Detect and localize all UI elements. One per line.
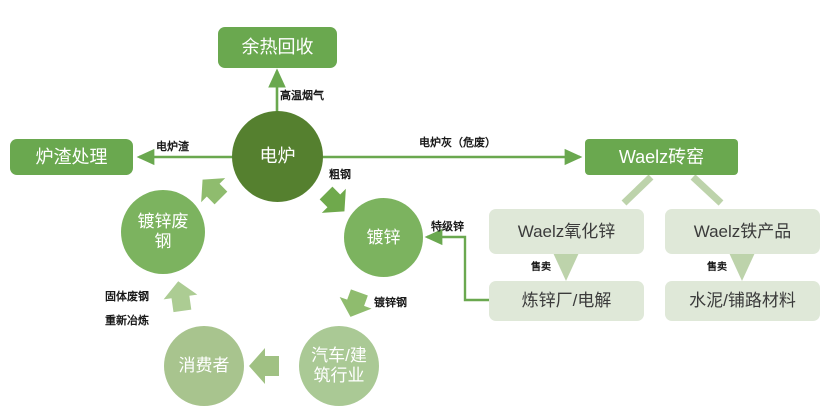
node-waelz-kiln[interactable]: Waelz砖窑 — [585, 139, 738, 175]
node-waelz-zinc-oxide[interactable]: Waelz氧化锌 — [489, 209, 644, 254]
node-electric-furnace[interactable]: 电炉 — [232, 111, 323, 202]
edge-label-special-zinc: 特级锌 — [431, 218, 464, 234]
edge-label-sell-zinc: 售卖 — [531, 258, 551, 273]
edge-kiln-to-zinc-oxide — [624, 177, 651, 203]
edge-industry-to-consumer-arrow — [249, 348, 279, 384]
node-label: 水泥/铺路材料 — [689, 291, 796, 311]
edge-kiln-to-iron-product — [693, 177, 721, 203]
node-cement-paving[interactable]: 水泥/铺路材料 — [665, 281, 820, 321]
node-galvanized-scrap[interactable]: 镀锌废钢 — [121, 190, 205, 274]
node-galvanizing[interactable]: 镀锌 — [344, 198, 423, 277]
node-slag-treatment[interactable]: 炉渣处理 — [10, 139, 133, 175]
edge-consumer-to-scrap-arrow — [161, 279, 199, 313]
node-label: 镀锌废钢 — [132, 212, 194, 251]
node-waste-heat-recovery[interactable]: 余热回收 — [218, 27, 337, 68]
edge-label-furnace-dust: 电炉灰（危废） — [419, 134, 496, 150]
edge-galvanizing-to-industry-arrow — [335, 287, 376, 323]
node-consumer[interactable]: 消费者 — [164, 326, 244, 406]
node-label: 炉渣处理 — [36, 147, 108, 168]
node-zinc-smelter[interactable]: 炼锌厂/电解 — [489, 281, 644, 321]
node-label: Waelz氧化锌 — [518, 222, 616, 242]
node-label: 消费者 — [179, 356, 230, 376]
node-label: 镀锌 — [367, 228, 401, 248]
edge-label-remelting: 重新冶炼 — [105, 312, 149, 328]
edge-label-solid-scrap: 固体废钢 — [105, 288, 149, 304]
edge-smelter-to-galvanizing — [427, 237, 497, 300]
node-label: 余热回收 — [242, 37, 314, 58]
node-label: Waelz铁产品 — [694, 222, 792, 242]
node-label: 汽车/建筑行业 — [309, 346, 369, 385]
node-label: 电炉 — [260, 146, 296, 167]
edge-label-furnace-slag: 电炉渣 — [156, 138, 189, 154]
node-waelz-iron-product[interactable]: Waelz铁产品 — [665, 209, 820, 254]
edge-scrap-to-furnace-arrow — [191, 168, 233, 210]
edge-label-galvanized-steel: 镀锌钢 — [374, 294, 407, 310]
node-auto-construction[interactable]: 汽车/建筑行业 — [299, 326, 379, 406]
node-label: Waelz砖窑 — [619, 147, 704, 168]
edge-label-sell-iron: 售卖 — [707, 258, 727, 273]
edge-label-hot-flue-gas: 高温烟气 — [280, 87, 324, 103]
node-label: 炼锌厂/电解 — [522, 291, 612, 311]
edge-label-crude-steel: 粗钢 — [329, 166, 351, 182]
process-flow-diagram: 余热回收 炉渣处理 电炉 Waelz砖窑 Waelz氧化锌 Waelz铁产品 炼… — [0, 0, 840, 420]
